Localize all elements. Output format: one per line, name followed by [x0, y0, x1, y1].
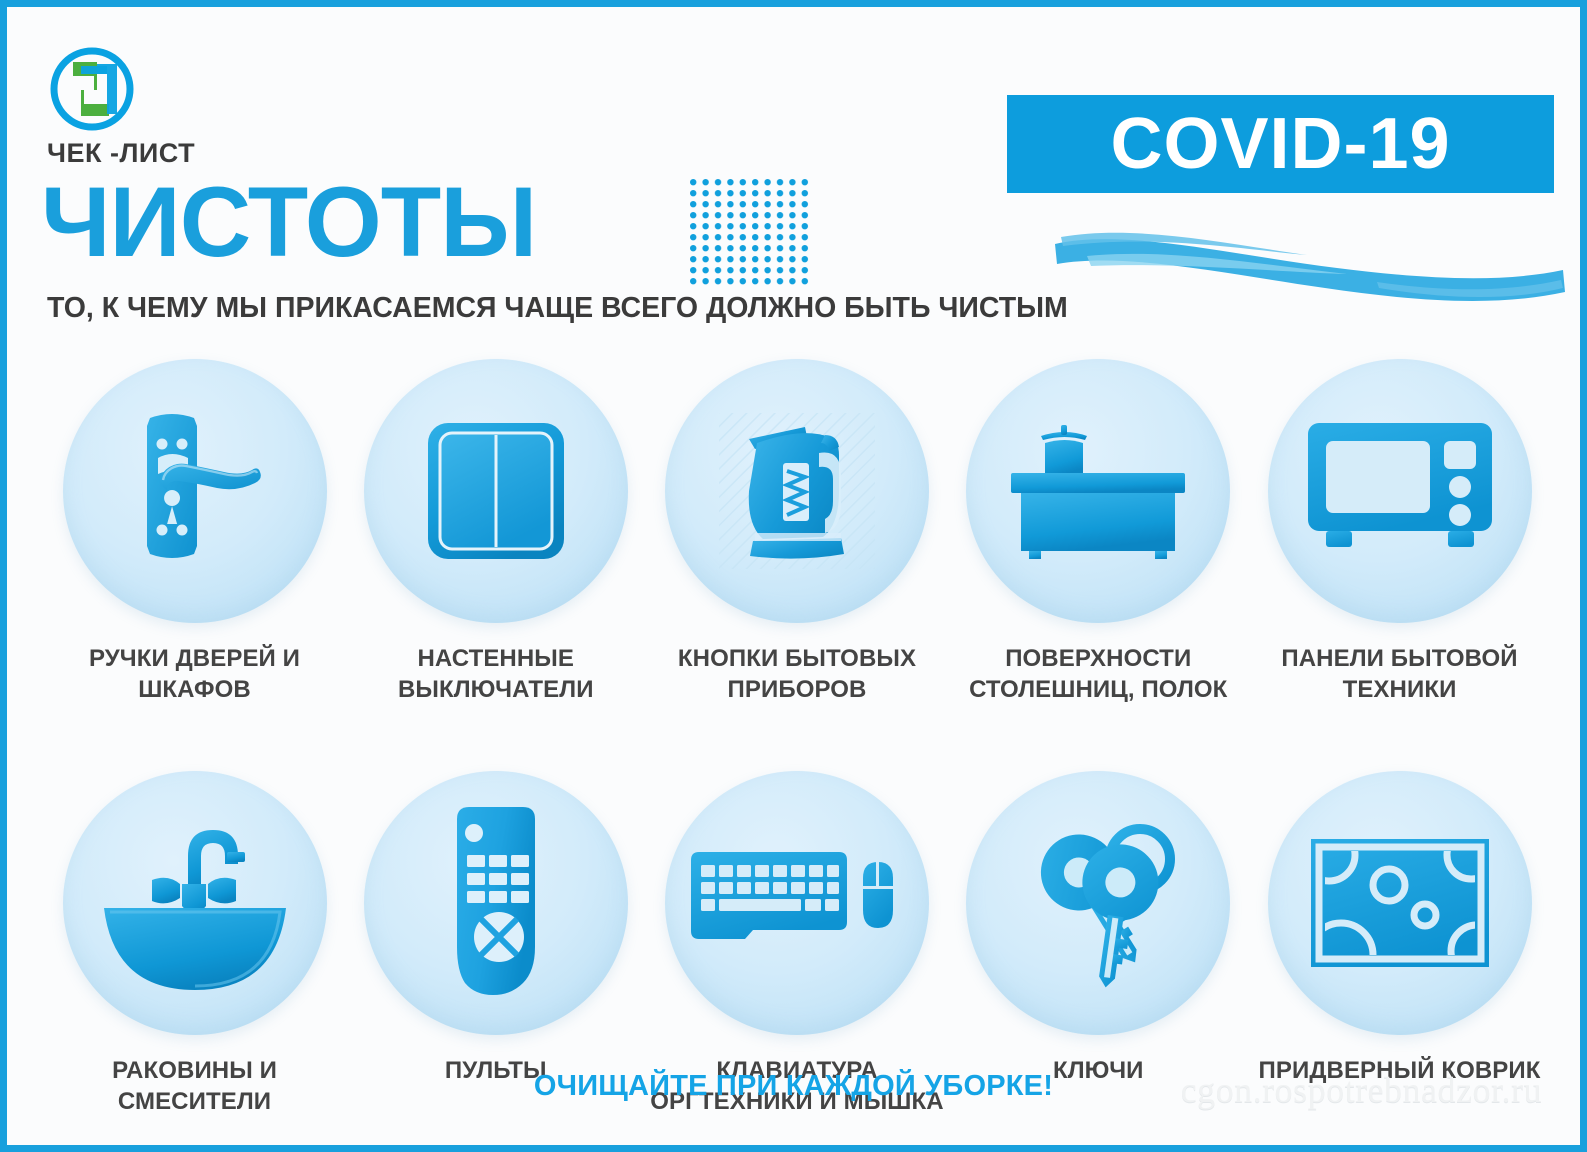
icon-bubble	[364, 771, 628, 1035]
keys-icon	[998, 803, 1198, 1003]
brush-wave-decoration	[1047, 222, 1567, 312]
checklist-item-label: НАСТЕННЫЕ ВЫКЛЮЧАТЕЛИ	[398, 644, 594, 705]
checklist-item[interactable]: РАКОВИНЫ И СМЕСИТЕЛИ	[47, 771, 342, 1117]
icon-bubble	[966, 359, 1230, 623]
checklist-item[interactable]: РУЧКИ ДВЕРЕЙ И ШКАФОВ	[47, 359, 342, 705]
page-title: ЧИСТОТЫ	[41, 172, 536, 271]
checklist-item[interactable]: ПАНЕЛИ БЫТОВОЙ ТЕХНИКИ	[1252, 359, 1547, 705]
sink-faucet-icon	[90, 808, 300, 998]
countertop-icon	[993, 401, 1203, 581]
checklist-grid: РУЧКИ ДВЕРЕЙ И ШКАФОВ	[47, 359, 1547, 1118]
keyboard-mouse-icon	[687, 848, 907, 958]
checklist-row-1: РУЧКИ ДВЕРЕЙ И ШКАФОВ	[47, 359, 1547, 705]
covid-badge: COVID-19	[1007, 95, 1554, 193]
checklist-item[interactable]: КЛЮЧИ	[951, 771, 1246, 1087]
kettle-icon	[697, 391, 897, 591]
remote-control-icon	[441, 803, 551, 1003]
icon-bubble	[1268, 771, 1532, 1035]
icon-bubble	[665, 771, 929, 1035]
checklist-item[interactable]: ПОВЕРХНОСТИ СТОЛЕШНИЦ, ПОЛОК	[951, 359, 1246, 705]
doormat-icon	[1305, 833, 1495, 973]
page-subtitle: ТО, К ЧЕМУ МЫ ПРИКАСАЕМСЯ ЧАЩЕ ВСЕГО ДОЛ…	[47, 292, 1068, 325]
checklist-item-label: ПАНЕЛИ БЫТОВОЙ ТЕХНИКИ	[1281, 644, 1517, 705]
rospotrebnadzor-logo	[47, 44, 137, 134]
icon-bubble	[1268, 359, 1532, 623]
poster-root: ЧЕК -ЛИСТ ЧИСТОТЫ ТО, К ЧЕМУ МЫ ПРИКАСАЕ…	[0, 0, 1587, 1152]
checklist-item[interactable]: НАСТЕННЫЕ ВЫКЛЮЧАТЕЛИ	[348, 359, 643, 705]
checklist-row-2: РАКОВИНЫ И СМЕСИТЕЛИ	[47, 771, 1547, 1117]
checklist-item-label: РУЧКИ ДВЕРЕЙ И ШКАФОВ	[89, 644, 300, 705]
icon-bubble	[63, 359, 327, 623]
checklist-item-label: ПОВЕРХНОСТИ СТОЛЕШНИЦ, ПОЛОК	[969, 644, 1227, 705]
checklist-item[interactable]: КЛАВИАТУРА ОРГТЕХНИКИ И МЫШКА	[650, 771, 945, 1117]
checklist-item[interactable]: ПРИДВЕРНЫЙ КОВРИК	[1252, 771, 1547, 1087]
checklist-item[interactable]: КНОПКИ БЫТОВЫХ ПРИБОРОВ	[650, 359, 945, 705]
site-watermark: cgon.rospotrebnadzor.ru	[1181, 1069, 1542, 1111]
icon-bubble	[665, 359, 929, 623]
dot-pattern-decoration	[690, 179, 814, 289]
kicker-text: ЧЕК -ЛИСТ	[47, 138, 195, 169]
icon-bubble	[63, 771, 327, 1035]
light-switch-icon	[411, 406, 581, 576]
icon-bubble	[966, 771, 1230, 1035]
checklist-item[interactable]: ПУЛЬТЫ	[348, 771, 643, 1087]
microwave-icon	[1300, 411, 1500, 571]
covid-badge-label: COVID-19	[1110, 108, 1450, 180]
icon-bubble	[364, 359, 628, 623]
door-handle-icon	[100, 396, 290, 586]
checklist-item-label: КНОПКИ БЫТОВЫХ ПРИБОРОВ	[678, 644, 916, 705]
